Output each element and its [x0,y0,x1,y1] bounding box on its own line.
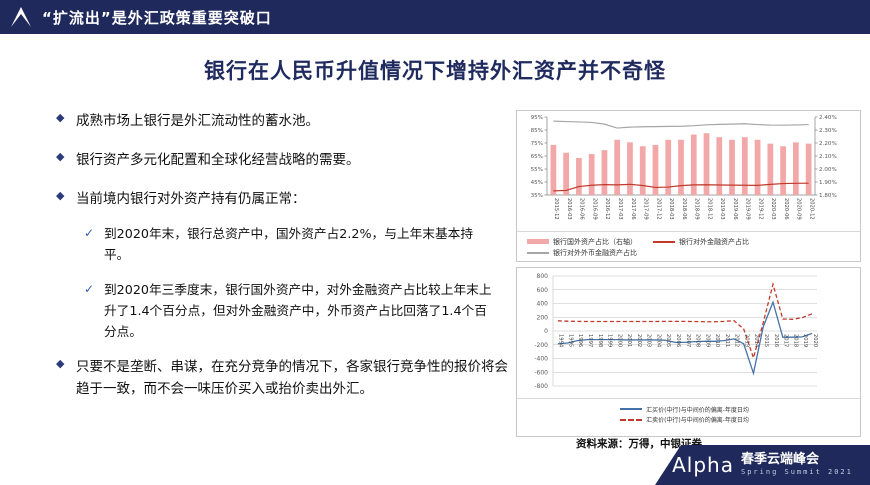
svg-text:2015: 2015 [763,334,769,347]
svg-text:-200: -200 [534,342,548,349]
svg-text:600: 600 [537,287,549,294]
svg-text:95%: 95% [531,115,543,121]
svg-text:2017-12: 2017-12 [655,198,661,220]
svg-text:2016-12: 2016-12 [604,198,610,220]
sub-bullet-item: ✓ 到2020年三季度末，银行国外资产中，对外金融资产占比较上年末上升了1.4个… [84,279,511,342]
chart-bank-foreign-assets: 35%45%55%65%75%85%95%1.80%1.90%2.00%2.10… [516,110,861,262]
page-title: 银行在人民币升值情况下增持外汇资产并不奇怪 [0,55,870,85]
chart2-plot: 8006004002000-200-400-600-80019941995199… [517,268,860,398]
diamond-bullet-icon: ◆ [56,110,76,127]
svg-text:65%: 65% [531,154,543,160]
svg-text:2018: 2018 [792,334,798,347]
legend-label: 银行对外金融资产占比 [679,237,749,247]
svg-text:1998: 1998 [597,334,603,347]
bullet-label: 银行资产多元化配置和全球化经营战略的需要。 [76,149,360,171]
bullet-item: ◆ 银行资产多元化配置和全球化经营战略的需要。 [56,149,511,171]
svg-text:2020-06: 2020-06 [783,198,789,220]
svg-text:1995: 1995 [567,334,573,347]
legend-entry: 汇买价(中行)与中间价的偏离-年度日均 [620,405,749,414]
legend-label: 银行对外外币金融资产占比 [553,248,637,258]
svg-text:2.20%: 2.20% [819,141,837,147]
svg-text:2019-03: 2019-03 [719,198,725,220]
svg-text:2003: 2003 [646,334,652,347]
chart2-legend: 汇买价(中行)与中间价的偏离-年度日均 汇卖价(中行)与中间价的偏离-年度日均 [517,398,860,430]
svg-text:2013: 2013 [743,334,749,347]
svg-text:800: 800 [537,273,549,280]
chart1-legend: 银行国外资产占比（右轴） 银行对外金融资产占比 银行对外外币金融资产占比 [517,231,860,263]
svg-text:2017-09: 2017-09 [643,198,649,220]
svg-text:2020-03: 2020-03 [770,198,776,220]
bullet-label: 只要不是垄断、串谋，在充分竞争的情况下，各家银行竞争性的报价将会趋于一致，而不会… [76,356,511,400]
svg-text:2000: 2000 [616,334,622,347]
svg-text:2020-12: 2020-12 [808,198,814,220]
svg-text:1.90%: 1.90% [819,180,837,186]
svg-text:1996: 1996 [577,334,583,347]
svg-text:2.30%: 2.30% [819,128,837,134]
svg-text:2016: 2016 [773,334,779,347]
svg-text:75%: 75% [531,141,543,147]
svg-text:2005: 2005 [665,334,671,347]
svg-text:2009: 2009 [704,334,710,347]
svg-text:1.80%: 1.80% [819,193,837,199]
svg-text:2018-09: 2018-09 [694,198,700,220]
sub-bullet-group: ✓ 到2020年末，银行总资产中，国外资产占2.2%，与上年末基本持平。 ✓ 到… [84,223,511,342]
svg-text:2002: 2002 [636,334,642,347]
svg-text:-400: -400 [534,356,548,363]
svg-text:2010: 2010 [714,334,720,347]
svg-text:2018-03: 2018-03 [668,198,674,220]
svg-text:35%: 35% [531,193,543,199]
sub-bullet-label: 到2020年三季度末，银行国外资产中，对外金融资产占比较上年末上升了1.4个百分… [104,279,496,342]
svg-text:2019-09: 2019-09 [745,198,751,220]
svg-text:2008: 2008 [695,334,701,347]
legend-label: 汇买价(中行)与中间价的偏离-年度日均 [646,405,749,414]
svg-text:1999: 1999 [607,334,613,347]
header-title: “扩流出”是外汇政策重要突破口 [42,7,272,28]
svg-text:2020-09: 2020-09 [796,198,802,220]
legend-entry: 银行国外资产占比（右轴） [527,237,637,247]
check-icon: ✓ [84,279,104,299]
svg-text:1997: 1997 [587,334,593,347]
svg-text:2012: 2012 [734,334,740,347]
chart-fx-bid-ask-deviation: 8006004002000-200-400-600-80019941995199… [516,267,861,437]
svg-text:2017: 2017 [783,334,789,347]
alpha-triangle-icon [0,0,42,34]
svg-text:1994: 1994 [558,334,564,348]
svg-text:2014: 2014 [753,334,759,348]
header-bar: “扩流出”是外汇政策重要突破口 [0,0,870,34]
svg-text:2011: 2011 [724,334,730,347]
svg-text:2001: 2001 [626,334,632,347]
sub-bullet-label: 到2020年末，银行总资产中，国外资产占2.2%，与上年末基本持平。 [104,223,496,265]
legend-swatch-line-red-dashed [620,419,642,421]
svg-text:0: 0 [544,328,548,335]
svg-text:55%: 55% [531,167,543,173]
bullet-item: ◆ 成熟市场上银行是外汇流动性的蓄水池。 [56,110,511,132]
svg-text:2016-06: 2016-06 [579,198,585,220]
legend-entry: 银行对外金融资产占比 [653,237,749,247]
svg-text:2.00%: 2.00% [819,167,837,173]
alpha-wordmark: Alpha [672,453,734,477]
legend-label: 银行国外资产占比（右轴） [553,237,637,247]
diamond-bullet-icon: ◆ [56,356,76,373]
bullet-item: ◆ 只要不是垄断、串谋，在充分竞争的情况下，各家银行竞争性的报价将会趋于一致，而… [56,356,511,400]
legend-swatch-bar [527,239,549,244]
svg-text:2018-06: 2018-06 [681,198,687,220]
summit-title-cn: 春季云端峰会 [741,453,853,467]
svg-text:2016-03: 2016-03 [566,198,572,220]
svg-text:2007: 2007 [685,334,691,347]
bullet-label: 成熟市场上银行是外汇流动性的蓄水池。 [76,110,319,132]
legend-swatch-line-red [653,241,675,243]
slide-body-text: ◆ 成熟市场上银行是外汇流动性的蓄水池。 ◆ 银行资产多元化配置和全球化经营战略… [56,110,511,417]
charts-panel: 35%45%55%65%75%85%95%1.80%1.90%2.00%2.10… [516,110,861,437]
check-icon: ✓ [84,223,104,243]
chart1-plot: 35%45%55%65%75%85%95%1.80%1.90%2.00%2.10… [517,111,860,231]
legend-swatch-line-gray [527,252,549,254]
bullet-item: ◆ 当前境内银行对外资产持有仍属正常： [56,188,511,210]
svg-text:2016-09: 2016-09 [591,198,597,220]
svg-text:2019-12: 2019-12 [757,198,763,220]
svg-text:2019: 2019 [802,334,808,347]
legend-entry: 银行对外外币金融资产占比 [527,248,637,258]
diamond-bullet-icon: ◆ [56,149,76,166]
svg-text:2004: 2004 [655,334,661,348]
svg-text:2017-06: 2017-06 [630,198,636,220]
svg-text:2018-12: 2018-12 [706,198,712,220]
svg-text:2.40%: 2.40% [819,115,837,121]
diamond-bullet-icon: ◆ [56,188,76,205]
legend-swatch-line-blue [620,408,642,410]
svg-text:-600: -600 [534,369,548,376]
summit-block: 春季云端峰会 Spring Summit 2021 [741,453,853,477]
svg-text:85%: 85% [531,128,543,134]
legend-entry: 汇卖价(中行)与中间价的偏离-年度日均 [620,415,749,424]
svg-text:2017-03: 2017-03 [617,198,623,220]
footer-brand-logo: Alpha 春季云端峰会 Spring Summit 2021 [655,445,870,485]
svg-text:200: 200 [537,314,549,321]
summit-title-en: Spring Summit 2021 [741,467,853,477]
svg-text:2020: 2020 [812,334,818,347]
svg-text:2006: 2006 [675,334,681,347]
svg-text:2.10%: 2.10% [819,154,837,160]
svg-text:2015-12: 2015-12 [553,198,559,220]
svg-text:400: 400 [537,301,549,308]
legend-label: 汇卖价(中行)与中间价的偏离-年度日均 [646,415,749,424]
svg-text:2019-06: 2019-06 [732,198,738,220]
sub-bullet-item: ✓ 到2020年末，银行总资产中，国外资产占2.2%，与上年末基本持平。 [84,223,511,265]
bullet-label: 当前境内银行对外资产持有仍属正常： [76,188,306,210]
svg-text:45%: 45% [531,180,543,186]
svg-text:-800: -800 [534,383,548,390]
